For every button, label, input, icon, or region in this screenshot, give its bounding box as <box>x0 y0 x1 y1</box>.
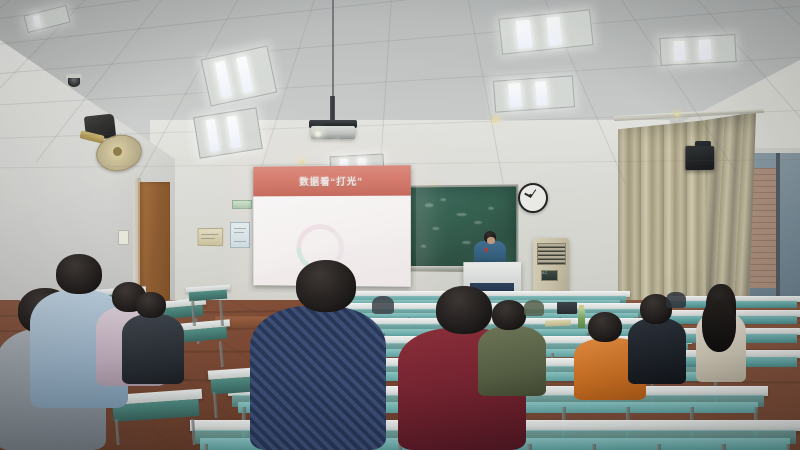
audience-member-distant <box>524 300 544 316</box>
audience-head <box>296 260 356 312</box>
audience-torso <box>122 314 184 384</box>
audience-torso <box>478 326 546 396</box>
audience-torso <box>628 318 686 384</box>
audience-head <box>136 292 166 318</box>
audience <box>0 0 800 450</box>
audience-head <box>56 254 102 294</box>
audience-member-distant <box>666 292 686 308</box>
long-hair <box>702 300 736 352</box>
classroom-photo: 数据看“打光” · · · · AC <box>0 0 800 450</box>
audience-head <box>492 300 526 330</box>
audience-torso <box>250 306 386 450</box>
audience-head <box>436 286 492 334</box>
audience-member-distant <box>372 296 394 314</box>
audience-head <box>588 312 622 342</box>
